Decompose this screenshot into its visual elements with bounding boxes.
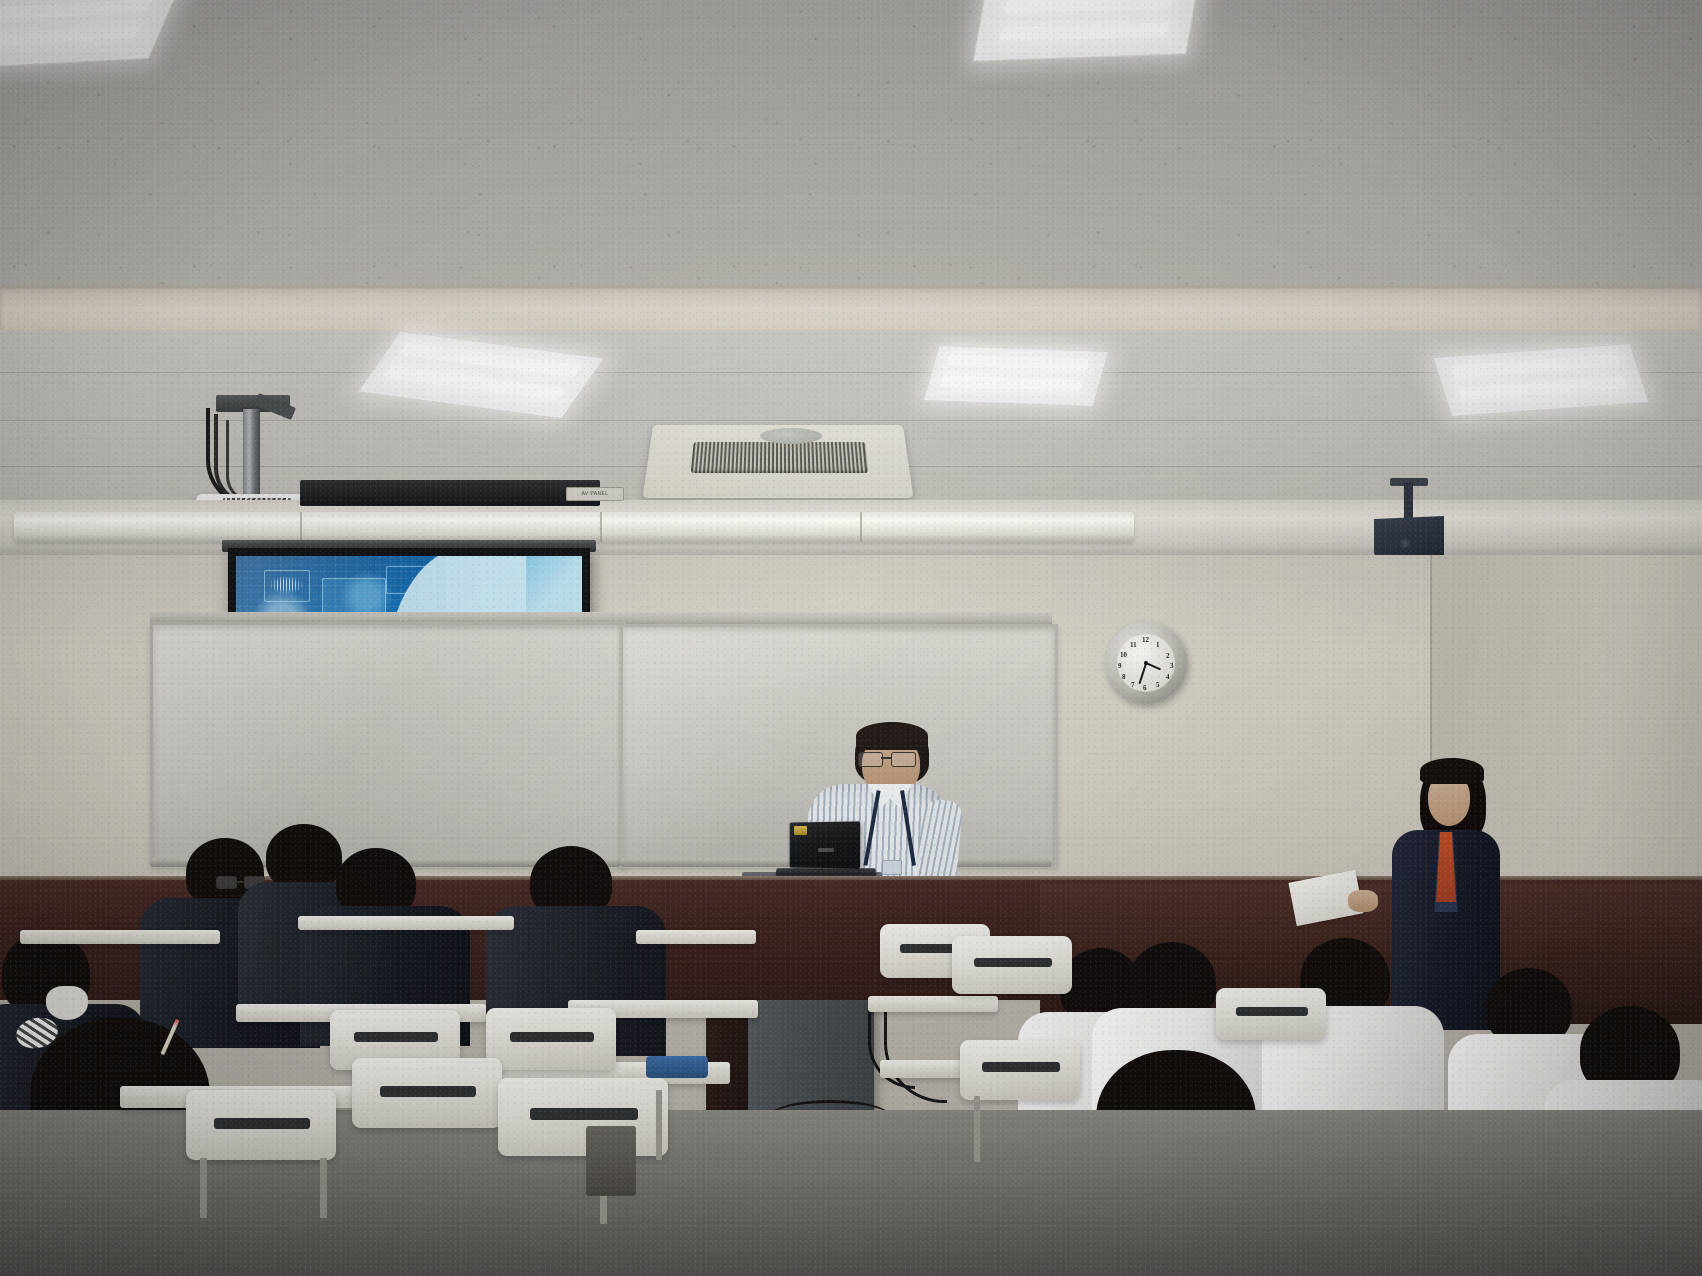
chair[interactable] [952,936,1072,994]
clock-numeral: 6 [1143,684,1147,692]
clock-numeral: 9 [1118,662,1122,670]
moderator-hand [1348,890,1378,912]
chair-leg [974,1096,980,1162]
clock-numeral: 1 [1156,641,1160,649]
chair[interactable] [1216,988,1326,1040]
ceiling-dark-recess [300,480,600,506]
whiteboard-left [150,622,626,868]
chair-leg [320,1158,327,1218]
speaker-mount-bracket [1404,482,1413,518]
laptop-sticker [794,826,807,835]
duct-seam [300,512,302,542]
air-conditioner-grille [691,442,869,473]
chair[interactable] [352,1058,502,1128]
chair[interactable] [498,1078,668,1156]
desk [298,916,514,930]
ceiling-light-row2-middle [923,345,1109,407]
clock-numeral: 8 [1122,673,1126,681]
duct-seam [600,512,602,542]
clock-numeral: 7 [1131,681,1135,689]
ceiling-texture [0,0,1702,330]
moderator-fringe [1420,758,1484,784]
clock-numeral: 5 [1156,681,1160,689]
chair-leg [656,1090,662,1160]
clock-center-pin [1144,661,1148,665]
chair-leg [200,1158,207,1218]
ceiling-upper [0,0,1702,330]
projector-cable [226,420,253,503]
clock-numeral: 10 [1120,651,1127,659]
laptop-keyboard-base [775,868,877,876]
clock-numeral: 12 [1142,636,1149,644]
whiteboard-sheen [153,625,623,865]
desk [636,930,756,944]
eyeglasses-icon [858,752,916,765]
slide-hud-box [264,570,310,602]
chair[interactable] [960,1040,1080,1100]
av-wall-panel-label: AV PANEL [566,487,624,501]
ceiling-dome-fixture [760,428,822,444]
ceiling-light-top-middle [973,0,1200,62]
presenter-lanyard [860,790,918,876]
slide-waveform-graphic [268,576,304,594]
desk [20,930,220,944]
duct-seam [860,512,862,542]
laptop-logo [818,848,834,852]
lecture-room-photo: AV PANEL [0,0,1702,1276]
chair[interactable] [186,1090,336,1160]
chair[interactable] [486,1008,616,1070]
speaker-cone [1400,538,1410,548]
id-badge [882,860,902,875]
clock-numeral: 3 [1170,662,1174,670]
bag-under-desk [586,1126,636,1196]
ceiling-duct [14,512,1134,542]
desk [868,996,998,1012]
blue-folder-on-desk [646,1056,708,1078]
clock-numeral: 2 [1166,652,1170,660]
clock-numeral: 4 [1166,673,1170,681]
presenter-hair-front [856,722,928,750]
clock-numeral: 11 [1130,641,1137,649]
